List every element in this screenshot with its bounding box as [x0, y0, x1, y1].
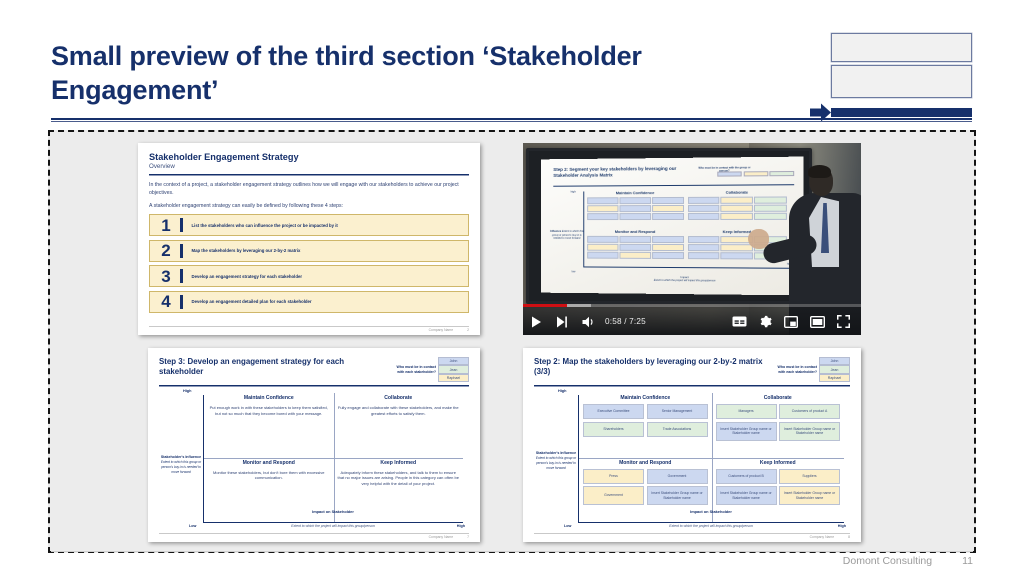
overview-step-list: 1 List the stakeholders who can influenc… — [149, 214, 469, 313]
video-slide-title: Step 2: Segment your key stakeholders by… — [553, 166, 701, 180]
slide-footer-company: Company Name — [810, 535, 835, 539]
matrix-cell — [688, 197, 720, 204]
legend-chip: Jean — [819, 365, 850, 373]
matrix-cell[interactable]: Suppliers — [779, 469, 840, 484]
video-slide-rule — [553, 184, 794, 186]
overview-title: Stakeholder Engagement Strategy — [149, 152, 469, 162]
video-quadrant-heading: Monitor and Respond — [587, 229, 683, 234]
quadrant-heading: Monitor and Respond — [583, 460, 708, 466]
matrix-cell[interactable]: Executive Committee — [583, 404, 644, 419]
video-slide-y-axis-label: Influence Extent to which this group or … — [549, 230, 584, 241]
step2-x-axis-label: Impact on Stakeholder Extent to which th… — [578, 509, 844, 532]
fullscreen-button[interactable] — [830, 309, 856, 335]
video-progress-bar[interactable] — [523, 304, 861, 307]
matrix-cell — [721, 244, 753, 251]
quadrant-cells: Managers Customers of product A Insert S… — [716, 404, 841, 441]
step2-quadrants: Maintain Confidence Executive Committee … — [579, 393, 844, 522]
list-item[interactable]: 2 Map the stakeholders by leveraging our… — [149, 240, 469, 262]
next-track-button[interactable] — [549, 309, 575, 335]
step-label: List the stakeholders who can influence … — [192, 223, 338, 228]
quadrant-heading: Maintain Confidence — [208, 395, 330, 401]
video-slide-x-axis-label: Impact Extent to which the project will … — [583, 274, 789, 283]
step3-legend-chips: John Jean Raphael — [438, 357, 469, 382]
volume-icon — [582, 316, 595, 328]
matrix-cell — [652, 205, 684, 212]
video-slide-y-high: high — [571, 190, 576, 194]
matrix-cell — [619, 252, 650, 259]
quadrant-text: Adequately inform these stakeholders, an… — [338, 470, 460, 487]
quadrant-cells: Customers of product B Suppliers Insert … — [716, 469, 841, 506]
video-button-row: 0:58 / 7:25 — [523, 308, 861, 335]
matrix-cell — [587, 236, 618, 243]
matrix-cell[interactable]: Insert Stakeholder Group name or Stakeho… — [716, 486, 777, 505]
page-footer: Domont Consulting 11 — [51, 551, 973, 567]
presenter-hand — [748, 229, 769, 249]
quadrant-collaborate: Collaborate Managers Customers of produc… — [712, 393, 845, 458]
matrix-cell[interactable]: Insert Stakeholder Group name or Stakeho… — [647, 486, 708, 505]
step-label: Develop an engagement strategy for each … — [192, 274, 303, 279]
step3-legend: Who must be in contact with each stakeho… — [390, 357, 469, 382]
step-number: 1 — [156, 217, 176, 234]
quadrant-text: Monitor these stakeholders, but don't bo… — [208, 470, 330, 482]
matrix-cell[interactable]: Insert Stakeholder Group name or Stakeho… — [779, 422, 840, 441]
step2-y-high: High — [558, 389, 566, 393]
volume-button[interactable] — [575, 309, 601, 335]
theater-mode-button[interactable] — [804, 309, 830, 335]
quadrant-collaborate: Collaborate Fully engage and collaborate… — [334, 393, 464, 458]
step3-y-axis-note: Extent to which this group or person's b… — [161, 460, 201, 474]
matrix-cell — [587, 252, 618, 259]
video-slide-y-low: low — [572, 270, 576, 273]
quadrant-maintain-confidence: Maintain Confidence Put enough work in w… — [204, 393, 334, 458]
video-quadrant: Maintain Confidence — [585, 189, 685, 228]
legend-chip — [743, 171, 768, 176]
quadrant-horizontal-divider — [204, 458, 463, 459]
video-quadrant-heading: Keep Informed — [688, 229, 787, 234]
matrix-cell — [754, 205, 787, 212]
miniplayer-icon — [784, 316, 798, 328]
video-time-display: 0:58 / 7:25 — [605, 317, 646, 326]
overview-lead-in: A stakeholder engagement strategy can ea… — [149, 203, 469, 209]
list-item[interactable]: 1 List the stakeholders who can influenc… — [149, 214, 469, 236]
settings-button[interactable] — [752, 309, 778, 335]
video-player[interactable]: Step 2: Segment your key stakeholders by… — [523, 143, 861, 335]
matrix-cell[interactable]: Trade Associations — [647, 422, 708, 437]
legend-chip: Jean — [438, 365, 469, 373]
matrix-cell — [721, 253, 753, 260]
matrix-cell — [754, 196, 787, 203]
slide-footer-company: Company Name — [429, 328, 454, 332]
fullscreen-icon — [837, 315, 850, 328]
matrix-cell — [587, 205, 618, 212]
step2-header: Step 2: Map the stakeholders by leveragi… — [534, 357, 850, 382]
video-played-bar — [523, 304, 567, 307]
legend-chip: Raphael — [438, 374, 469, 382]
step-number: 2 — [156, 242, 176, 259]
step2-y-axis-label: Stakeholder's Influence Extent to which … — [534, 451, 578, 471]
video-quadrant-cells — [688, 196, 787, 220]
step2-rule — [534, 385, 850, 387]
legend-chip — [717, 171, 741, 176]
quadrant-horizontal-divider — [579, 458, 844, 459]
step3-x-axis-note: Extent to which the project will impact … — [291, 524, 375, 528]
step2-x-axis-note: Extent to which the project will impact … — [669, 524, 753, 528]
matrix-cell — [688, 252, 720, 259]
matrix-cell — [619, 236, 650, 243]
video-quadrant-heading: Collaborate — [688, 189, 787, 195]
play-icon — [531, 316, 542, 328]
matrix-cell — [619, 205, 650, 212]
matrix-cell — [721, 205, 753, 212]
captions-button[interactable] — [726, 309, 752, 335]
header-placeholder-box-1[interactable] — [831, 33, 972, 62]
matrix-cell — [587, 244, 618, 251]
step2-x-low: Low — [564, 524, 571, 528]
header-placeholder-box-2[interactable] — [831, 65, 972, 98]
step-divider — [180, 269, 183, 283]
step3-y-axis-label: Stakeholder's Influence Extent to which … — [159, 455, 203, 475]
step3-quadrants: Maintain Confidence Put enough work in w… — [204, 393, 463, 522]
matrix-cell — [721, 197, 753, 204]
footer-page-number: 11 — [962, 555, 973, 567]
video-controls-bar[interactable]: 0:58 / 7:25 — [523, 304, 861, 335]
matrix-cell[interactable]: Managers — [716, 404, 777, 419]
video-slide-x-axis-note: Extent to which the project will impact … — [583, 278, 789, 283]
matrix-cell[interactable]: Shareholders — [583, 422, 644, 437]
theater-mode-icon — [810, 316, 825, 328]
quadrant-text: Put enough work in with these stakeholde… — [208, 405, 330, 417]
video-slide-y-axis-title: Influence — [550, 230, 561, 233]
matrix-cell[interactable]: Press — [583, 469, 644, 484]
overview-rule — [149, 174, 469, 176]
thumbnail-overview-slide[interactable]: Stakeholder Engagement Strategy Overview… — [138, 143, 480, 335]
matrix-cell — [652, 213, 684, 220]
step3-legend-question: Who must be in contact with each stakeho… — [390, 365, 436, 374]
step2-matrix: High Stakeholder's Influence Extent to w… — [534, 389, 850, 537]
quadrant-maintain-confidence: Maintain Confidence Executive Committee … — [579, 393, 712, 458]
matrix-cell[interactable]: Customers of product A — [779, 404, 840, 419]
slide-footer: Company Name 8 — [534, 533, 850, 539]
quadrant-heading: Collaborate — [716, 395, 841, 401]
matrix-cell — [652, 236, 684, 243]
step-number: 4 — [156, 293, 176, 310]
slide-footer-page: 7 — [467, 535, 469, 539]
slide-footer: Company Name 2 — [149, 326, 469, 332]
list-item[interactable]: 4 Develop an engagement detailed plan fo… — [149, 291, 469, 313]
video-quadrant-heading: Maintain Confidence — [587, 190, 683, 195]
step2-y-axis-note: Extent to which this group or person's b… — [536, 456, 576, 470]
video-quadrant-cells — [587, 197, 683, 221]
step-number: 3 — [156, 268, 176, 285]
video-onscreen-slide: Step 2: Segment your key stakeholders by… — [541, 157, 804, 296]
quadrant-text: Fully engage and collaborate with these … — [338, 405, 460, 417]
header-navy-bar — [831, 108, 972, 117]
slide-footer-page: 2 — [467, 328, 469, 332]
thumbnail-step3-slide[interactable]: Step 3: Develop an engagement strategy f… — [148, 348, 480, 542]
step-divider — [180, 218, 183, 232]
matrix-cell — [721, 213, 753, 220]
step3-y-axis-title: Stakeholder's Influence — [161, 455, 201, 459]
quadrant-cells: Press Government Government Insert Stake… — [583, 469, 708, 506]
page-title: Small preview of the third section ‘Stak… — [51, 40, 671, 108]
matrix-cell[interactable]: Government — [647, 469, 708, 484]
legend-chip: John — [819, 357, 850, 365]
presenter-hair — [808, 165, 831, 178]
step2-legend-question: Who must be in contact with each stakeho… — [771, 365, 817, 374]
video-quadrant: Monitor and Respond — [585, 228, 685, 267]
gear-icon — [759, 315, 772, 328]
quadrant-cells: Executive Committee Senior Management Sh… — [583, 404, 708, 437]
matrix-cell — [688, 236, 720, 243]
quadrant-heading: Maintain Confidence — [583, 395, 708, 401]
slide-footer-company: Company Name — [429, 535, 454, 539]
quadrant-heading: Collaborate — [338, 395, 460, 401]
step3-x-axis-label: Impact on Stakeholder Extent to which th… — [203, 509, 463, 532]
video-slide-legend-chips — [717, 171, 794, 177]
next-track-icon — [556, 316, 568, 328]
step2-title: Step 2: Map the stakeholders by leveragi… — [534, 357, 771, 378]
title-divider — [51, 118, 972, 122]
matrix-cell[interactable]: Government — [583, 486, 644, 505]
step-label: Map the stakeholders by leveraging our 2… — [192, 248, 301, 253]
play-button[interactable] — [523, 309, 549, 335]
matrix-cell[interactable]: Senior Management — [647, 404, 708, 419]
step3-title: Step 3: Develop an engagement strategy f… — [159, 357, 390, 378]
step3-matrix: High Stakeholder's Influence Extent to w… — [159, 389, 469, 537]
matrix-cell[interactable]: Insert Stakeholder Group name or Stakeho… — [716, 422, 777, 441]
quadrant-heading: Keep Informed — [716, 460, 841, 466]
slide-footer-page: 8 — [848, 535, 850, 539]
step-divider — [180, 244, 183, 258]
footer-company: Domont Consulting — [843, 555, 932, 567]
legend-chip — [769, 171, 794, 176]
miniplayer-button[interactable] — [778, 309, 804, 335]
step2-y-axis-title: Stakeholder's Influence — [536, 451, 576, 455]
presentation-slide: Small preview of the third section ‘Stak… — [0, 0, 1024, 576]
step-divider — [180, 295, 183, 309]
matrix-cell — [652, 197, 684, 204]
matrix-cell[interactable]: Insert Stakeholder Group name or Stakeho… — [779, 486, 840, 505]
list-item[interactable]: 3 Develop an engagement strategy for eac… — [149, 265, 469, 287]
quadrant-heading: Keep Informed — [338, 460, 460, 466]
matrix-cell — [688, 213, 720, 220]
overview-subtitle: Overview — [149, 163, 469, 170]
matrix-cell — [619, 197, 650, 204]
step2-x-axis-title: Impact on Stakeholder — [578, 509, 844, 514]
matrix-cell — [587, 197, 618, 204]
matrix-cell[interactable]: Customers of product B — [716, 469, 777, 484]
quadrant-heading: Monitor and Respond — [208, 460, 330, 466]
video-quadrant-cells — [587, 236, 683, 260]
matrix-cell — [619, 244, 650, 251]
thumbnail-step2-slide[interactable]: Step 2: Map the stakeholders by leveragi… — [523, 348, 861, 542]
matrix-cell — [652, 244, 684, 251]
video-presentation-screen: Step 2: Segment your key stakeholders by… — [526, 148, 812, 304]
video-right-controls — [726, 309, 861, 335]
matrix-cell — [688, 244, 720, 251]
legend-chip: Raphael — [819, 374, 850, 382]
legend-chip: John — [438, 357, 469, 365]
matrix-cell — [587, 213, 618, 220]
matrix-cell — [754, 213, 787, 220]
step3-y-high: High — [183, 389, 191, 393]
step3-x-low: Low — [189, 524, 196, 528]
step-label: Develop an engagement detailed plan for … — [192, 299, 312, 304]
step3-header: Step 3: Develop an engagement strategy f… — [159, 357, 469, 382]
step2-legend: Who must be in contact with each stakeho… — [771, 357, 850, 382]
step3-x-axis-title: Impact on Stakeholder — [203, 509, 463, 514]
step3-rule — [159, 385, 469, 387]
step2-legend-chips: John Jean Raphael — [819, 357, 850, 382]
video-quadrant: Collaborate — [686, 188, 789, 228]
matrix-cell — [619, 213, 650, 220]
matrix-cell — [688, 205, 720, 212]
closed-captions-icon — [732, 316, 747, 327]
slide-footer: Company Name 7 — [159, 533, 469, 539]
overview-paragraph: In the context of a project, a stakehold… — [149, 181, 469, 197]
matrix-cell — [652, 252, 684, 259]
